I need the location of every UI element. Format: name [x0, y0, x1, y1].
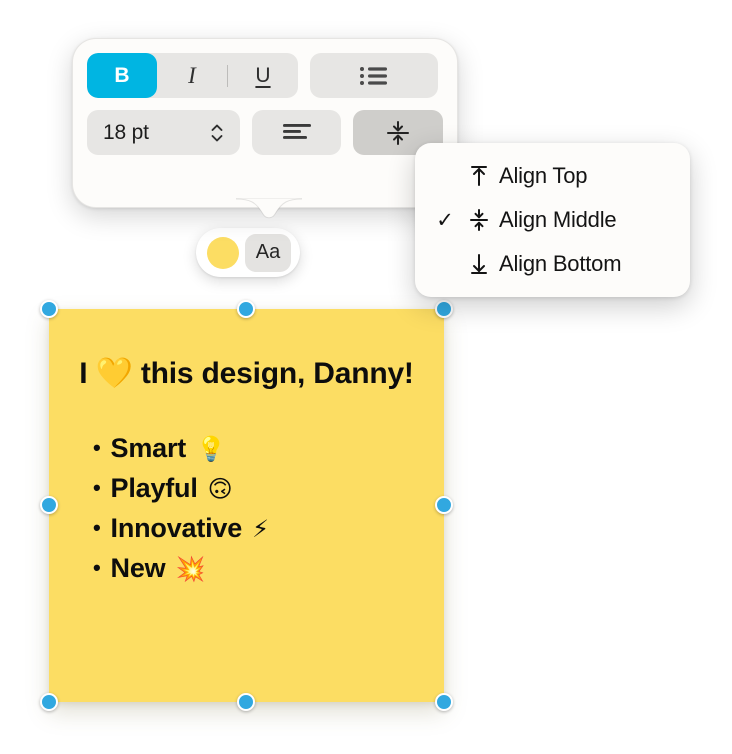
resize-handle-top-left[interactable]	[40, 300, 58, 318]
italic-button[interactable]: I	[157, 53, 227, 98]
collision-icon: 💥	[175, 552, 205, 588]
list-item: • Smart 💡	[93, 429, 418, 469]
lightning-bolt-icon: ⚡	[252, 512, 269, 548]
resize-handle-bottom-left[interactable]	[40, 693, 58, 711]
resize-handle-bottom-right[interactable]	[435, 693, 453, 711]
resize-handle-middle-right[interactable]	[435, 496, 453, 514]
color-swatch-button[interactable]	[207, 237, 239, 269]
bullet-icon: •	[93, 477, 101, 499]
list-item: • Innovative ⚡	[93, 509, 418, 549]
list-item-label: New	[111, 549, 166, 589]
text-style-chip[interactable]: Aa	[196, 228, 300, 277]
toolbar-row-1: B I U	[87, 53, 443, 98]
bold-button[interactable]: B	[87, 53, 157, 98]
popover-tail	[236, 198, 302, 232]
menu-item-align-bottom[interactable]: Align Bottom	[415, 242, 690, 286]
bullet-icon: •	[93, 517, 101, 539]
text-style-segmented-group: B I U	[87, 53, 298, 98]
menu-item-align-top[interactable]: Align Top	[415, 154, 690, 198]
align-bottom-icon	[459, 252, 499, 276]
format-toolbar-popover: B I U 18 pt	[72, 38, 458, 208]
list-item: • New 💥	[93, 549, 418, 589]
bullet-icon: •	[93, 437, 101, 459]
align-left-button[interactable]	[252, 110, 342, 155]
resize-handle-bottom-center[interactable]	[237, 693, 255, 711]
check-icon: ✓	[431, 208, 459, 233]
align-middle-icon	[459, 208, 499, 232]
menu-item-align-middle[interactable]: ✓ Align Middle	[415, 198, 690, 242]
list-item-label: Smart	[111, 429, 187, 469]
menu-item-label: Align Top	[499, 163, 587, 189]
italic-icon: I	[188, 63, 196, 89]
underline-button[interactable]: U	[228, 53, 298, 98]
align-middle-icon	[385, 120, 411, 146]
align-top-icon	[459, 164, 499, 188]
menu-item-label: Align Bottom	[499, 251, 621, 277]
underline-icon: U	[255, 64, 270, 88]
bold-icon: B	[114, 64, 129, 88]
align-left-icon	[283, 123, 311, 143]
resize-handle-top-right[interactable]	[435, 300, 453, 318]
stepper-chevrons-icon[interactable]	[210, 122, 224, 144]
resize-handle-top-center[interactable]	[237, 300, 255, 318]
bullet-icon: •	[93, 557, 101, 579]
toolbar-row-2: 18 pt	[87, 110, 443, 155]
list-item-label: Playful	[111, 469, 198, 509]
font-size-value: 18 pt	[103, 121, 149, 145]
lightbulb-icon: 💡	[196, 432, 226, 468]
resize-handle-middle-left[interactable]	[40, 496, 58, 514]
bulleted-list-button[interactable]	[310, 53, 438, 98]
upside-down-face-icon: 🙃	[208, 472, 233, 508]
sticky-note-text-body[interactable]: I 💛 this design, Danny! • Smart 💡 • Play…	[49, 309, 444, 702]
note-bullet-list: • Smart 💡 • Playful 🙃 • Innovative ⚡ • N…	[75, 429, 418, 589]
font-size-stepper[interactable]: 18 pt	[87, 110, 240, 155]
sticky-note[interactable]: I 💛 this design, Danny! • Smart 💡 • Play…	[49, 309, 444, 702]
list-item-label: Innovative	[111, 509, 243, 549]
text-style-button[interactable]: Aa	[245, 234, 291, 272]
list-item: • Playful 🙃	[93, 469, 418, 509]
bulleted-list-icon	[359, 65, 389, 87]
note-heading: I 💛 this design, Danny!	[75, 355, 418, 393]
menu-item-label: Align Middle	[499, 207, 616, 233]
align-dropdown-menu: Align Top ✓ Align Middle	[415, 143, 690, 297]
